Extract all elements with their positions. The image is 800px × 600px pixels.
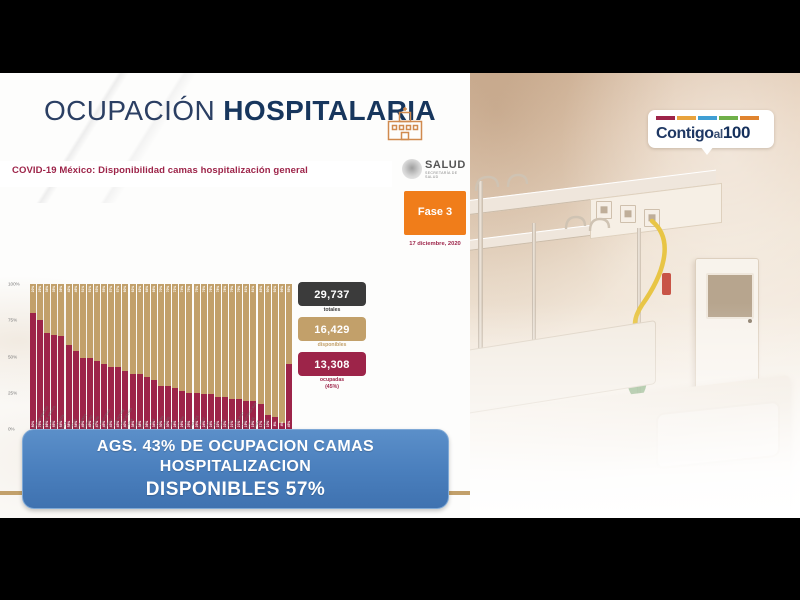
chart-bar-value-disponibilidad: 78% [216,286,220,292]
salud-logo: SALUD SECRETARÍA DE SALUD [400,157,470,183]
chart-bar-value-disponibilidad: 51% [88,286,92,292]
kpi-available-chip: 16,429 [298,317,366,341]
chart-bar-disponibilidad: 46% [73,284,79,351]
chart-bar-value-disponibilidad: 25% [38,286,42,292]
chart-bar-disponibilidad: 64% [144,284,150,377]
kpi-occupied-percent: (45%) [298,384,366,390]
chart-bar-ocupacion: 80% [30,313,36,429]
chart-bar: 60%40% [122,284,128,429]
chart-bar-ocupacion: 58% [66,345,72,429]
chart-bar: 46%54% [73,284,79,429]
chart-bar-disponibilidad: 78% [222,284,228,397]
chart-bar-disponibilidad: 81% [250,284,256,401]
chart-bar-value-disponibilidad: 55% [102,286,106,292]
chart-bar-value-disponibilidad: 75% [187,286,191,292]
contigo-stripes [656,116,759,120]
chart-bar-disponibilidad: 74% [179,284,185,391]
chart-bar-disponibilidad: 57% [108,284,114,367]
chart-bar: 83%17% [258,284,264,429]
slide-header: OCUPACIÓN HOSPITALARIA [0,81,470,143]
chart-bar: 55%45% [101,284,107,429]
chart-bar-disponibilidad: 20% [30,284,36,313]
chart-bar-value-disponibilidad: 20% [31,286,35,292]
chart-bar-value-disponibilidad: 60% [123,286,127,292]
chart-bar: 76%24% [208,284,214,429]
chart-bar-disponibilidad: 34% [44,284,50,333]
kpi-total-caption: totales [298,307,366,313]
logo-stripe [677,116,696,120]
chart-y-tick: 75% [8,318,17,323]
chart-bar-value-disponibilidad: 78% [223,286,227,292]
chart-bar: 20%80% [30,284,36,429]
status-banner: AGS. 43% DE OCUPACION CAMAS HOSPITALIZAC… [22,429,449,509]
chart-bar-value-disponibilidad: 36% [59,286,63,292]
chart-y-tick: 100% [8,282,20,287]
contigo-word-number: 100 [723,123,750,142]
chart-bar-value-disponibilidad: 66% [152,286,156,292]
chart-bar: 42%58% [66,284,72,429]
chart-bar-disponibilidad: 36% [58,284,64,336]
chart-bar-value-disponibilidad: 74% [180,286,184,292]
chart-bar: 79%21% [236,284,242,429]
kpi-stack: 29,737 totales 16,429 disponibles 13,308 [298,282,394,394]
chart-bar-value-disponibilidad: 90% [266,286,270,292]
chart-bar: 57%43% [115,284,121,429]
photo-bottom-fade [470,303,800,518]
chart-bar: 81%19% [243,284,249,429]
chart-bar-disponibilidad: 53% [94,284,100,361]
chart-bar: 74%26% [179,284,185,429]
red-clip-icon [662,273,671,295]
chart-bar-disponibilidad: 55% [101,284,107,364]
chart-bar-value-disponibilidad: 51% [81,286,85,292]
contigo-word-main: Contigo [656,125,714,142]
chart-bar: 96%4% [279,284,285,429]
chart-bar-value-disponibilidad: 81% [244,286,248,292]
chart-bar-disponibilidad: 72% [172,284,178,388]
chart-bar-value-disponibilidad: 81% [251,286,255,292]
chart-bar-value-disponibilidad: 42% [67,286,71,292]
chart-bar-disponibilidad: 79% [236,284,242,399]
kpi-occupied-value: 13,308 [314,359,349,371]
chart-bar: 75%25% [186,284,192,429]
chart-bar-disponibilidad: 66% [151,284,157,380]
hospital-room-photo: Contigoal100 [470,73,800,518]
salud-wordmark: SALUD [425,159,466,171]
chart-bar-value-disponibilidad: 72% [173,286,177,292]
logo-stripe [740,116,759,120]
fase-label: Fase 3 [404,206,466,218]
chart-bar-disponibilidad: 75% [186,284,192,393]
chart-bar: 57%43% [108,284,114,429]
chart-bar: 36%64% [58,284,64,429]
chart-bar-disponibilidad: 76% [208,284,214,394]
chart-bar-value-disponibilidad: 35% [52,286,56,292]
logo-stripe [719,116,738,120]
chart-bar-disponibilidad: 70% [165,284,171,386]
content-area: OCUPACIÓN HOSPITALARIA [0,73,800,518]
chart-y-tick: 25% [8,390,17,395]
chart-bar-disponibilidad: 51% [87,284,93,358]
chart-bar-disponibilidad: 62% [130,284,136,374]
chart-bar-disponibilidad: 79% [229,284,235,399]
chart-y-tick: 0% [8,427,15,432]
chart-bar-value-disponibilidad: 76% [209,286,213,292]
chart-bar-disponibilidad: 35% [51,284,57,335]
chart-bar-value-disponibilidad: 70% [166,286,170,292]
broadcast-frame: OCUPACIÓN HOSPITALARIA [0,0,800,600]
contigo-logo-tail [700,146,714,155]
kpi-available: 16,429 disponibles [298,317,394,348]
chart-bar: 66%34% [151,284,157,429]
kpi-total-value: 29,737 [314,289,349,301]
chart-bar-value-disponibilidad: 62% [138,286,142,292]
logo-stripe [656,116,675,120]
chart-bar-disponibilidad: 90% [265,284,271,415]
chart-bar: 79%21% [229,284,235,429]
chart-bar-value-disponibilidad: 64% [145,286,149,292]
chart-bar-disponibilidad: 78% [215,284,221,397]
fase-badge: Fase 3 [404,191,466,235]
chart-bar-value-disponibilidad: 34% [45,286,49,292]
kpi-occupied-chip: 13,308 [298,352,366,376]
fase-date: 17 diciembre, 2020 [398,241,470,247]
chart-bar: 75%25% [194,284,200,429]
kpi-total-chip: 29,737 [298,282,366,306]
chart-bar: 90%10% [265,284,271,429]
chart-bar-ocupacion: 45% [286,364,292,429]
logo-stripe [698,116,717,120]
chart-bar-value-ocupacion: 45% [287,421,291,427]
chart-bar-value-disponibilidad: 46% [74,286,78,292]
contigo-word-al: al [714,127,723,141]
hospital-building-icon [385,105,425,148]
salud-subtitle: SECRETARÍA DE SALUD [425,171,470,179]
chart-bar-disponibilidad: 83% [258,284,264,404]
chart-bar-value-disponibilidad: 55% [287,286,291,292]
banner-line-1: AGS. 43% DE OCUPACION CAMAS [97,437,374,457]
kpi-available-value: 16,429 [314,324,349,336]
chart-bar: 53%47% [94,284,100,429]
chart-bar-disponibilidad: 25% [37,284,43,320]
contigo-al-100-logo: Contigoal100 [648,110,774,148]
kpi-total: 29,737 totales [298,282,394,313]
chart-bar-value-disponibilidad: 96% [280,286,284,292]
banner-line-3: DISPONIBLES 57% [146,479,326,501]
chart-bar-value-disponibilidad: 79% [230,286,234,292]
chart-bar-disponibilidad: 75% [194,284,200,393]
chart-bar-disponibilidad: 70% [158,284,164,386]
chart-bar-value-disponibilidad: 53% [95,286,99,292]
kpi-occupied: 13,308 ocupadas (45%) [298,352,394,390]
chart-bar-value-disponibilidad: 70% [159,286,163,292]
chart-bar-value-disponibilidad: 57% [109,286,113,292]
chart-bar: 78%22% [215,284,221,429]
chart-bar-value-disponibilidad: 57% [116,286,120,292]
chart-bar-disponibilidad: 51% [80,284,86,358]
chart-bar-disponibilidad: 96% [279,284,285,423]
contigo-wordmark: Contigoal100 [656,123,750,143]
chart-bar: 55%45% [286,284,292,429]
kpi-occupied-caption: ocupadas [298,377,366,383]
chart-bar-value-disponibilidad: 83% [259,286,263,292]
presentation-slide: OCUPACIÓN HOSPITALARIA [0,73,470,518]
chart-bar-disponibilidad: 81% [243,284,249,401]
chart-bar-value-disponibilidad: 75% [195,286,199,292]
chart-bar-disponibilidad: 42% [66,284,72,345]
chart-bar: 72%28% [172,284,178,429]
chart-bar-ocupacion: 8% [272,417,278,429]
chart-bar: 51%49% [80,284,86,429]
chart-bar: 70%30% [158,284,164,429]
chart-bar-disponibilidad: 76% [201,284,207,394]
chart-bar-ocupacion: 65% [51,335,57,429]
chart-bar: 92%8% [272,284,278,429]
chart-bar-value-disponibilidad: 62% [131,286,135,292]
chart-bar-disponibilidad: 62% [137,284,143,374]
chart-bar: 25%75% [37,284,43,429]
chart-bar: 51%49% [87,284,93,429]
chart-bar-value-disponibilidad: 92% [273,286,277,292]
page-title-light: OCUPACIÓN [44,95,223,126]
chart-bar: 70%30% [165,284,171,429]
chart-bar-value-disponibilidad: 76% [202,286,206,292]
chart-bar-disponibilidad: 60% [122,284,128,371]
chart-bar-disponibilidad: 55% [286,284,292,364]
chart-bar: 64%36% [144,284,150,429]
chart-subtitle: COVID-19 México: Disponibilidad camas ho… [12,165,308,176]
chart-y-tick: 50% [8,354,17,359]
chart-bar-value-disponibilidad: 79% [237,286,241,292]
chart-bar-disponibilidad: 92% [272,284,278,417]
kpi-available-caption: disponibles [298,342,366,348]
banner-line-2: HOSPITALIZACION [160,457,311,477]
eagle-emblem-icon [402,159,422,179]
chart-bar-value-ocupacion: 8% [273,422,277,427]
chart-bar-disponibilidad: 57% [115,284,121,367]
chart-bar: 78%22% [222,284,228,429]
page-title: OCUPACIÓN HOSPITALARIA [44,95,436,127]
chart-bar-value-ocupacion: 4% [280,422,284,427]
chart-bar: 62%38% [137,284,143,429]
chart-bar: 76%24% [201,284,207,429]
